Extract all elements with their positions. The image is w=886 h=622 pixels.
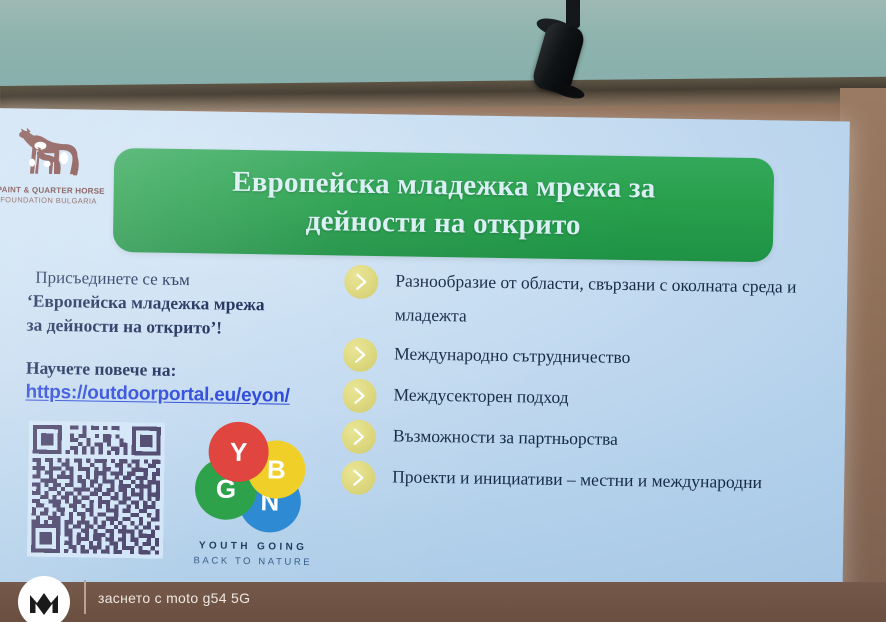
- horse-logo-name: PAINT & QUARTER HORSE: [0, 185, 101, 196]
- list-item: Международно сътрудничество: [343, 337, 813, 379]
- list-item-label: Междусекторен подход: [393, 379, 569, 415]
- motorola-batwing-icon: [18, 576, 70, 622]
- qr-code[interactable]: [27, 421, 165, 559]
- photo-canvas: PAINT & QUARTER HORSE FOUNDATION BULGARI…: [0, 0, 886, 622]
- paint-quarter-horse-logo: PAINT & QUARTER HORSE FOUNDATION BULGARI…: [0, 126, 102, 210]
- projected-slide: PAINT & QUARTER HORSE FOUNDATION BULGARI…: [0, 108, 850, 609]
- watermark-divider: [84, 580, 86, 614]
- list-item: Разнообразие от области, свързани с окол…: [344, 264, 815, 339]
- chevron-right-icon: [342, 420, 377, 455]
- slide-title: Европейска младежка мрежа за дейности на…: [215, 164, 671, 247]
- chevron-right-icon: [342, 379, 377, 414]
- learn-more-label: Научете повече на:: [26, 358, 346, 384]
- list-item: Проекти и инициативи – местни и междунар…: [341, 460, 811, 502]
- bullet-list: Разнообразие от области, свързани с окол…: [341, 264, 815, 509]
- chevron-right-icon: [344, 265, 379, 300]
- horse-and-foal-icon: [3, 126, 96, 185]
- list-item-label: Проекти и инициативи – местни и междунар…: [392, 461, 762, 500]
- list-item-label: Разнообразие от области, свързани с окол…: [395, 264, 815, 338]
- ygn-tagline-line2: BACK TO NATURE: [190, 555, 316, 568]
- slide-title-line1: Европейска младежка мрежа за: [232, 166, 656, 205]
- list-item: Възможности за партньорства: [342, 419, 812, 461]
- slide-title-banner: Европейска младежка мрежа за дейности на…: [113, 148, 775, 262]
- eyon-portal-link[interactable]: https://outdoorportal.eu/eyon/: [25, 382, 290, 408]
- list-item-label: Международно сътрудничество: [394, 338, 631, 375]
- slide-title-line2: дейности на открито: [305, 205, 581, 241]
- qr-code-icon: [27, 421, 165, 559]
- horse-logo-subtitle: FOUNDATION BULGARIA: [0, 195, 101, 206]
- ygn-tagline-line1: YOUTH GOING: [190, 540, 316, 553]
- network-name-quote-line2: за дейности на открито’!: [26, 313, 346, 341]
- camera-watermark-bar: заснето с moto g54 5G: [0, 582, 886, 622]
- ygn-logo: G N B Y YOUTH GOING BACK TO NATURE: [190, 421, 318, 571]
- left-text-column: Присъединете се към ‘Европейска младежка…: [25, 267, 347, 409]
- list-item-label: Възможности за партньорства: [393, 420, 618, 457]
- chevron-right-icon: [341, 461, 376, 496]
- watermark-text: заснето с moto g54 5G: [98, 590, 250, 606]
- ygn-letter-circles: G N B Y: [190, 421, 318, 533]
- list-item: Междусекторен подход: [342, 378, 812, 420]
- chevron-right-icon: [343, 338, 378, 373]
